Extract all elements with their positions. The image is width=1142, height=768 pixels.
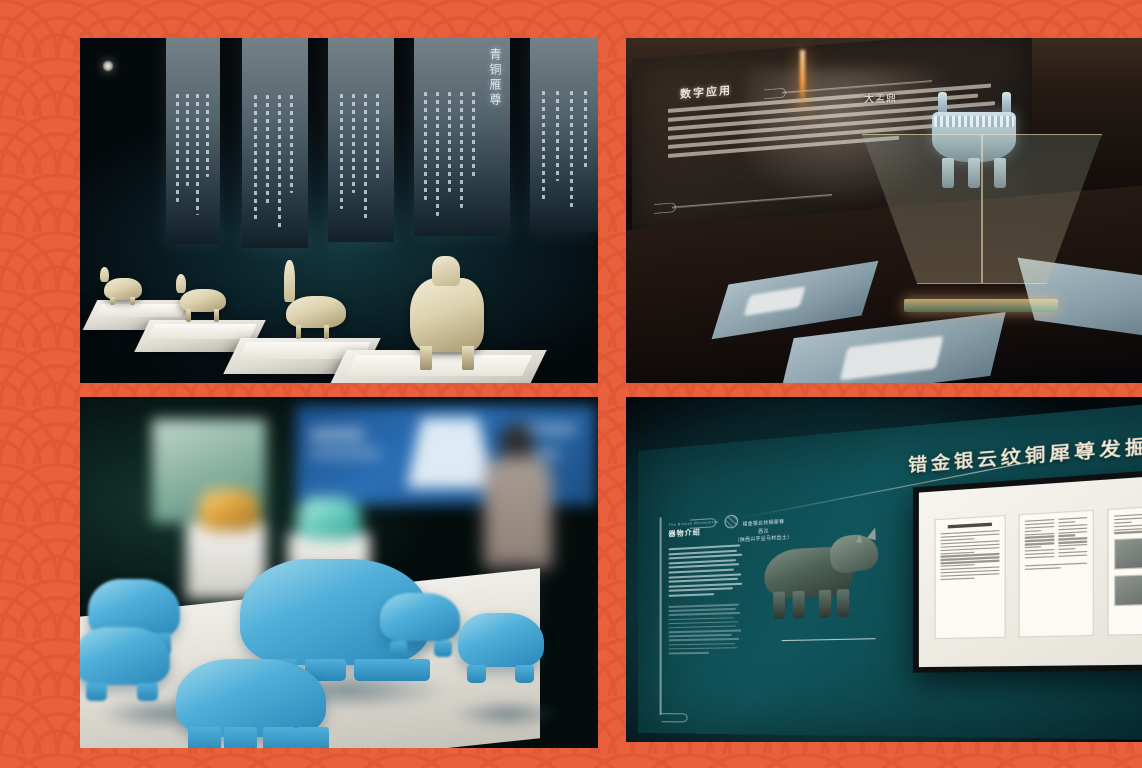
framed-document bbox=[913, 466, 1142, 673]
pyramid-base-glow bbox=[904, 299, 1058, 312]
banner-gap bbox=[220, 38, 242, 242]
object-shadow bbox=[452, 699, 562, 729]
calligraphy-banner bbox=[166, 38, 220, 244]
banner-main-title: 青铜雁尊 bbox=[487, 48, 504, 108]
document-page bbox=[1018, 510, 1093, 638]
rhino-replica-blue bbox=[380, 593, 460, 641]
artifact-leg bbox=[324, 325, 329, 339]
artifact-leg bbox=[462, 346, 474, 370]
rhino-replica-teal bbox=[296, 497, 362, 539]
artifact-leg bbox=[186, 309, 191, 322]
decorative-hook-icon bbox=[690, 518, 717, 529]
info-card: The Bronze Rhinoceros 器物介绍 bbox=[660, 512, 744, 716]
photo-top-right[interactable]: 数字应用 bbox=[626, 38, 1142, 383]
measure-line bbox=[782, 638, 876, 641]
rhino-horn-icon bbox=[856, 534, 863, 543]
calligraphy-banner-main: 青铜雁尊 bbox=[414, 38, 510, 236]
photo-grid: 青铜雁尊 bbox=[40, 22, 1103, 732]
artifact-leg bbox=[296, 325, 301, 339]
info-card-chinese-text bbox=[669, 544, 744, 597]
artifact-finial bbox=[432, 256, 460, 286]
document-figure bbox=[1114, 536, 1142, 570]
banner-gap bbox=[510, 38, 530, 236]
exhibition-wall: 错金银云纹铜犀尊发掘简报 The Bronze Rhinoceros 器物介绍 bbox=[638, 397, 1142, 741]
decorative-hook-icon bbox=[662, 713, 688, 722]
banner-gap bbox=[308, 38, 328, 246]
document-page bbox=[1107, 504, 1142, 636]
calligraphy-banner bbox=[328, 38, 394, 242]
artifact-goose-zun bbox=[286, 296, 346, 328]
holographic-pyramid bbox=[858, 134, 1104, 312]
photo-top-left[interactable]: 青铜雁尊 bbox=[80, 38, 598, 383]
artifact-beast-zun bbox=[410, 278, 484, 352]
banner-gap bbox=[394, 38, 414, 242]
wall-heading: 错金银云纹铜犀尊发掘简报 bbox=[908, 426, 1142, 477]
rhino-replica-blue-front bbox=[176, 659, 326, 737]
calligraphy-banner bbox=[530, 38, 598, 232]
calligraphy-banner bbox=[242, 38, 308, 248]
artifact-leg bbox=[214, 309, 219, 322]
rhino-replica-blue bbox=[458, 613, 544, 667]
ceiling-spotlight bbox=[102, 60, 114, 72]
rhino-replica-gold bbox=[198, 489, 260, 531]
info-card-english-text bbox=[669, 603, 744, 654]
artifact-leg bbox=[420, 346, 432, 370]
document-page bbox=[934, 515, 1005, 639]
screen-heading: 数字应用 bbox=[680, 82, 732, 102]
artifact-leg bbox=[110, 297, 115, 305]
document-figure bbox=[1114, 573, 1142, 606]
page-root: 青铜雁尊 bbox=[0, 0, 1142, 768]
pedestal bbox=[325, 350, 546, 383]
hologram-label: 大盂鼎 bbox=[864, 90, 897, 105]
artifact-neck bbox=[176, 274, 186, 293]
artifact-neck bbox=[284, 260, 295, 302]
photo-bottom-left[interactable]: Blue translucent resin rhinoceros replic… bbox=[80, 397, 598, 748]
overhead-lamp bbox=[800, 50, 805, 112]
photo-bottom-right[interactable]: 错金银云纹铜犀尊发掘简报 The Bronze Rhinoceros 器物介绍 bbox=[626, 397, 1142, 742]
artifact-neck bbox=[100, 267, 109, 282]
artifact-caption: 错金银云纹铜犀尊 西汉 （陕西兴平豆马村出土） bbox=[735, 517, 793, 544]
rhino-replica-blue bbox=[80, 627, 170, 685]
artifact-leg bbox=[130, 297, 135, 305]
rhino-horn-icon bbox=[867, 526, 880, 540]
